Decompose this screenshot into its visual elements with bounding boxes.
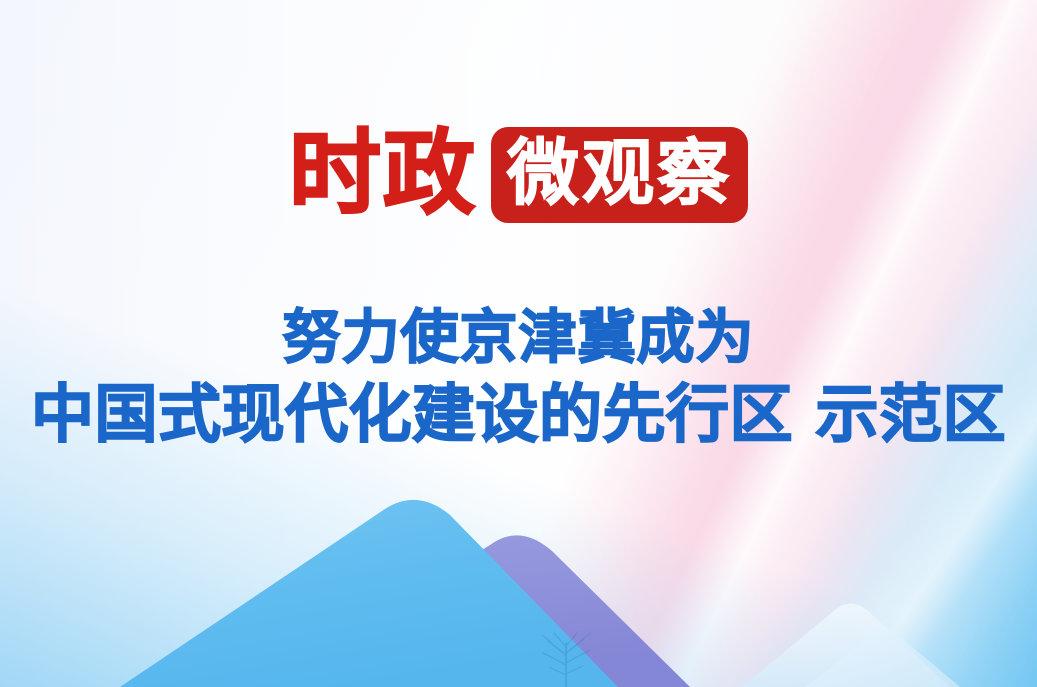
- headline-line-2: 中国式现代化建设的先行区 示范区: [0, 374, 1037, 456]
- brand-logo-lockup: 时政 微观察: [0, 112, 1037, 238]
- headline-line-1: 努力使京津冀成为: [0, 300, 1037, 374]
- poster-canvas: 时政 微观察 努力使京津冀成为 中国式现代化建设的先行区 示范区: [0, 0, 1037, 687]
- headline-block: 努力使京津冀成为 中国式现代化建设的先行区 示范区: [0, 300, 1037, 456]
- mountain-artwork: [0, 457, 1037, 687]
- brand-primary-text: 时政: [289, 127, 477, 219]
- brand-badge: 微观察: [491, 127, 748, 223]
- brand-badge-text: 微观察: [507, 134, 732, 212]
